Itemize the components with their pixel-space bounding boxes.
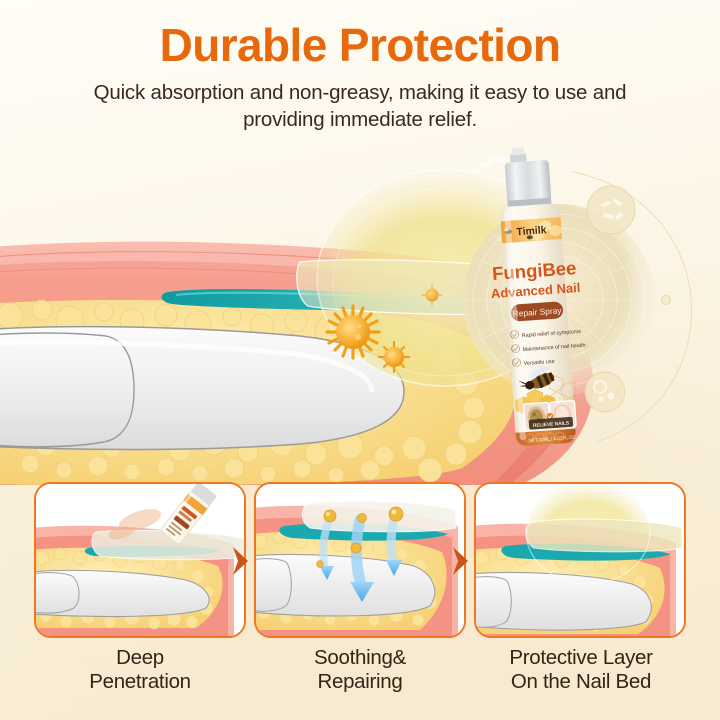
infographic-root: Durable Protection Quick absorption and …	[0, 0, 720, 720]
product-bottle: Timilk FungiBee Advanced Nail Repair Spr…	[455, 140, 720, 485]
germ-icon	[379, 342, 409, 372]
caption-line: Repairing	[254, 670, 466, 694]
brand-text: Timilk	[516, 224, 547, 238]
caption-line: Deep	[34, 646, 246, 670]
decor-bubble	[585, 372, 625, 412]
panel-caption-2: Soothing& Repairing	[254, 646, 466, 694]
caption-line: Protective Layer	[470, 646, 692, 670]
panel-soothing-repairing[interactable]	[254, 482, 466, 638]
panel-deep-penetration[interactable]	[34, 482, 246, 638]
decor-bubble	[587, 186, 635, 234]
benefit-panels: Deep Penetration Soothing& Repairing Pro…	[0, 482, 720, 720]
arrow-separator	[449, 544, 471, 578]
nail-segment-proximal	[0, 333, 134, 447]
decor-dot	[662, 296, 671, 305]
page-title: Durable Protection	[0, 22, 720, 70]
caption-line: Soothing&	[254, 646, 466, 670]
spray-mist	[469, 156, 507, 174]
germ-icon	[327, 306, 379, 358]
panel-protective-layer[interactable]	[474, 482, 686, 638]
header: Durable Protection Quick absorption and …	[0, 22, 720, 133]
caption-line: On the Nail Bed	[470, 670, 692, 694]
arrow-separator	[229, 544, 251, 578]
page-subtitle: Quick absorption and non-greasy, making …	[0, 79, 720, 133]
caption-line: Penetration	[34, 670, 246, 694]
panel-caption-1: Deep Penetration	[34, 646, 246, 694]
bottle-cap	[505, 160, 552, 205]
panel-caption-3: Protective Layer On the Nail Bed	[470, 646, 692, 694]
